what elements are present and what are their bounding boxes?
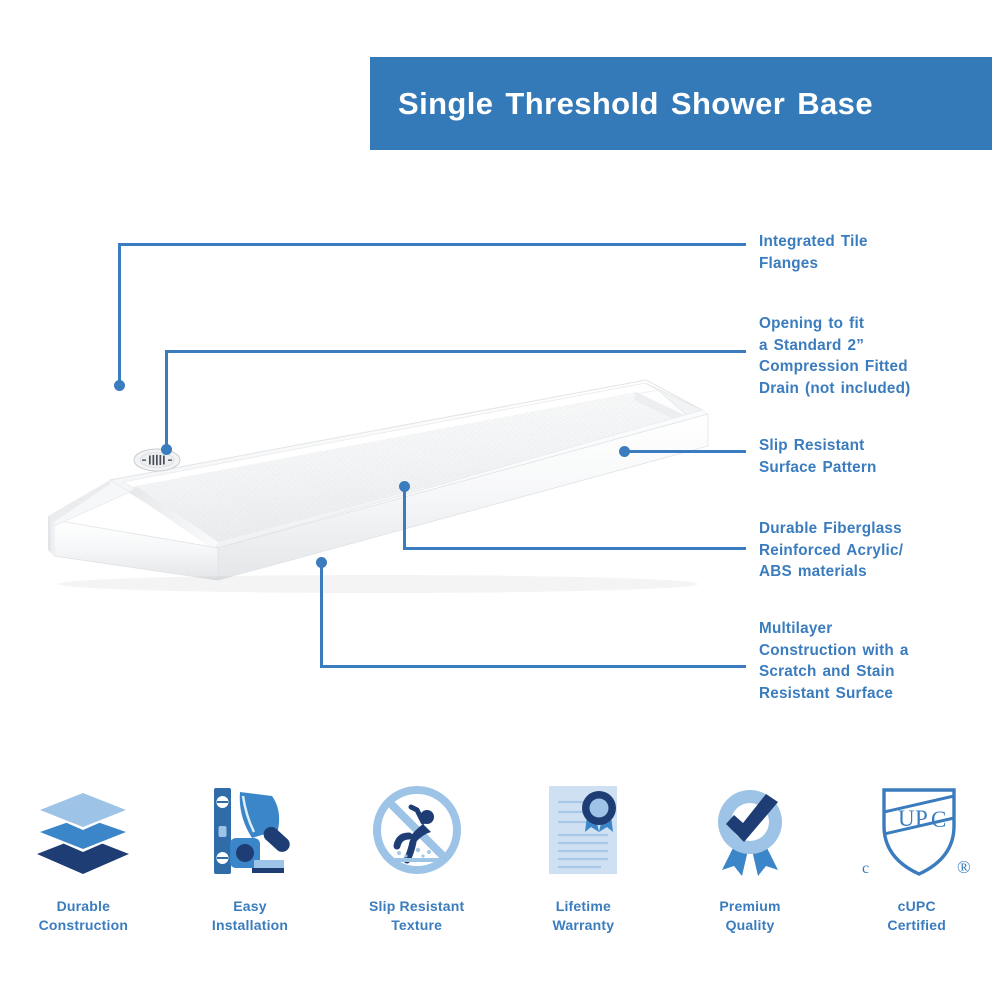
drain-grate — [134, 449, 180, 471]
upc-prefix-c: c — [862, 860, 869, 877]
feature-label-lifetime-warranty: Lifetime Warranty — [552, 897, 614, 935]
upc-letter-u: U — [898, 806, 915, 831]
feature-cupc-certified: U P C c ® cUPC Certified — [833, 775, 1000, 965]
base-left-side — [48, 516, 54, 556]
feature-label-slip-resistant: Slip Resistant Texture — [369, 897, 464, 935]
base-shadow — [58, 575, 698, 593]
callout-drain-opening: Opening to fit a Standard 2” Compression… — [759, 313, 910, 399]
callout-slip-resistant-surface: Slip Resistant Surface Pattern — [759, 435, 877, 478]
title-banner: Single Threshold Shower Base — [370, 57, 992, 150]
callout-durable-materials: Durable Fiberglass Reinforced Acrylic/ A… — [759, 518, 903, 583]
callout-integrated-tile-flanges: Integrated Tile Flanges — [759, 231, 868, 274]
page-title: Single Threshold Shower Base — [370, 86, 873, 122]
no-slip-icon — [363, 775, 471, 885]
leader-line-integrated-tile-flanges-h — [118, 243, 746, 246]
registered-mark: ® — [957, 857, 971, 877]
upc-letter-p: P — [915, 806, 928, 831]
leader-line-slip-resistant-surface-h — [624, 450, 746, 453]
feature-label-cupc-certified: cUPC Certified — [887, 897, 946, 935]
feature-label-premium-quality: Premium Quality — [719, 897, 780, 935]
upc-shield-icon: U P C c ® — [858, 775, 976, 885]
feature-lifetime-warranty: Lifetime Warranty — [500, 775, 667, 965]
shower-base-svg — [18, 360, 718, 600]
leader-line-drain-opening-h — [165, 350, 746, 353]
callout-multilayer-construction: Multilayer Construction with a Scratch a… — [759, 618, 909, 704]
feature-premium-quality: Premium Quality — [667, 775, 834, 965]
leader-line-multilayer-construction-v — [320, 563, 323, 668]
shower-base-illustration — [18, 360, 718, 600]
leader-line-multilayer-construction-h — [320, 665, 746, 668]
stacked-layers-icon — [29, 775, 137, 885]
base-left-top — [54, 480, 130, 526]
upc-letter-c: C — [931, 807, 946, 832]
feature-label-easy-installation: Easy Installation — [212, 897, 288, 935]
infographic-page: Single Threshold Shower Base — [0, 0, 1000, 1000]
feature-easy-installation: Easy Installation — [167, 775, 334, 965]
feature-slip-resistant: Slip Resistant Texture — [333, 775, 500, 965]
leader-line-integrated-tile-flanges-v — [118, 243, 121, 385]
leader-line-durable-materials-h — [403, 547, 746, 550]
certificate-icon — [529, 775, 637, 885]
leader-line-drain-opening-v — [165, 350, 168, 450]
feature-row: Durable Construction — [0, 775, 1000, 965]
leader-line-durable-materials-v — [403, 487, 406, 550]
feature-durable-construction: Durable Construction — [0, 775, 167, 965]
award-check-icon — [696, 775, 804, 885]
feature-label-durable-construction: Durable Construction — [39, 897, 129, 935]
tools-level-trowel-icon — [196, 775, 304, 885]
